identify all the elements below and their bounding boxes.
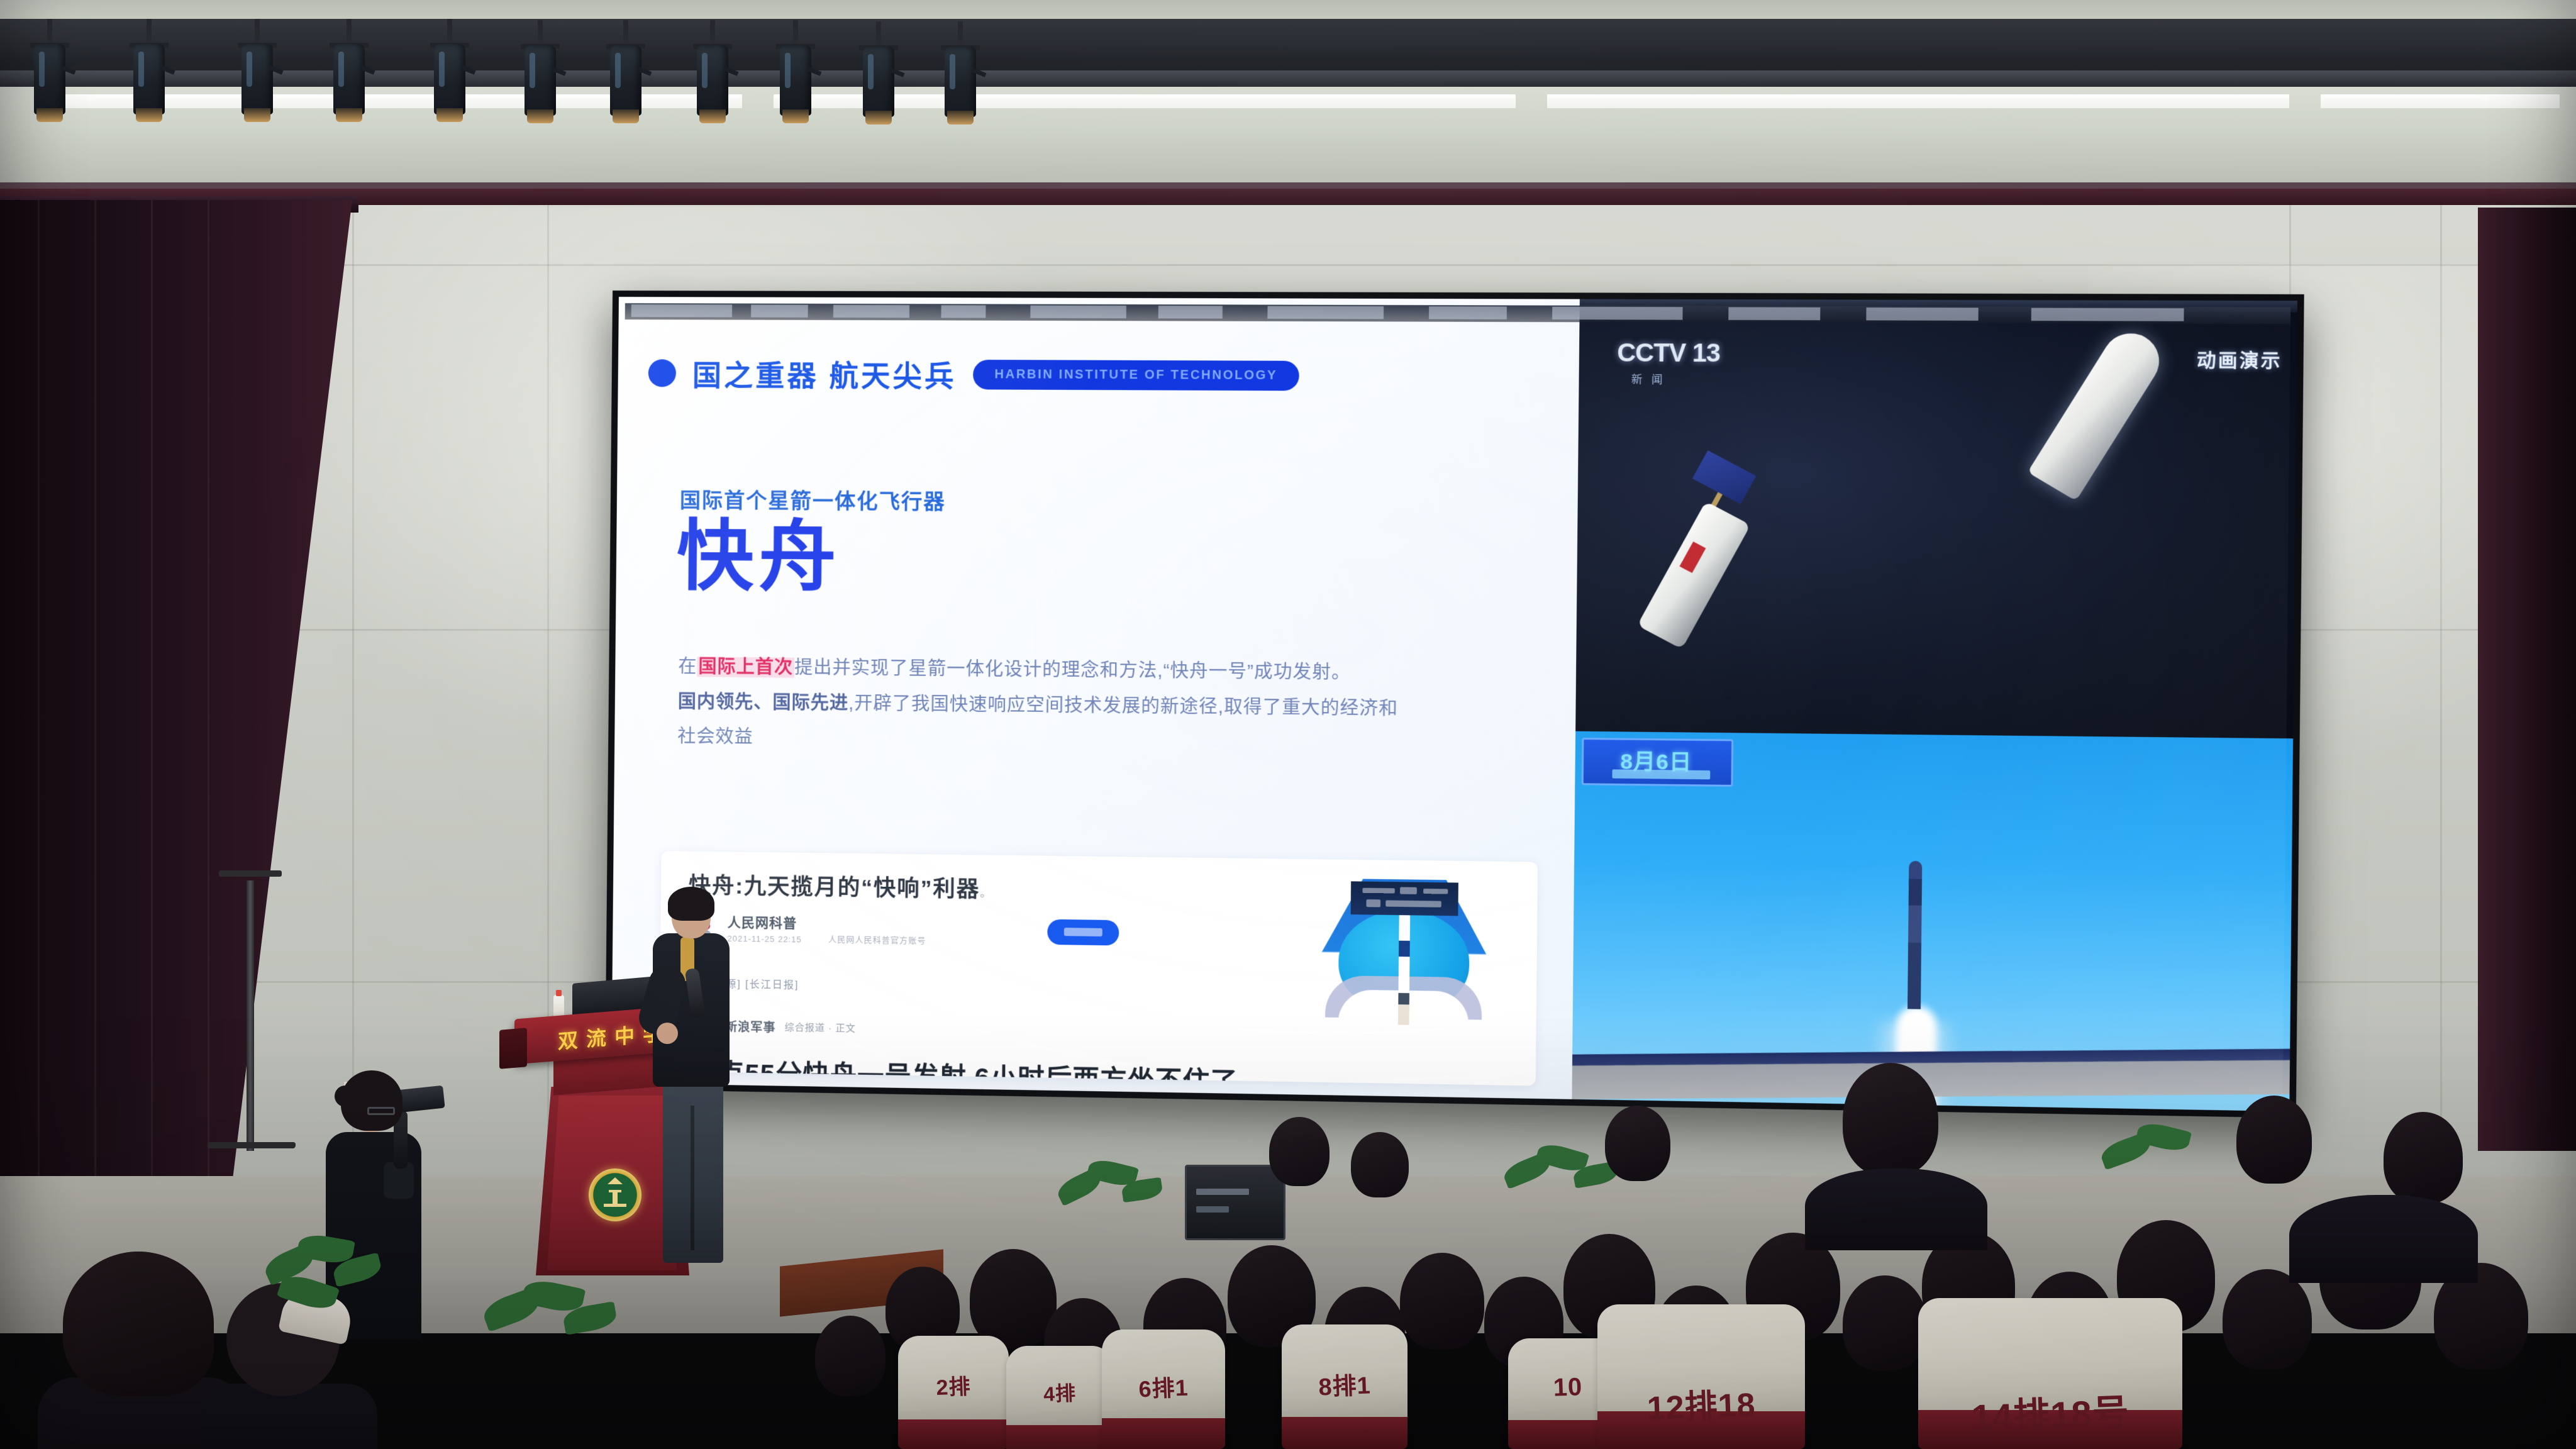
seat: 4排 [1006,1346,1113,1449]
audience-head [1843,1063,1938,1176]
body-rest: 提出并实现了星箭一体化设计的理念和方法,“快舟一号”成功发射。 [794,658,1351,683]
screen-bezel: 国之重器 航天尖兵 HARBIN INSTITUTE OF TECHNOLOGY… [605,291,2304,1118]
school-emblem [589,1169,641,1221]
audience-head [1605,1106,1670,1181]
seat: 2排 [898,1336,1009,1449]
follow-button[interactable] [1047,919,1119,946]
news-source-account: 人民网人民科普官方账号 [828,933,926,946]
ceiling-light-strip [2321,94,2560,108]
audience-head [2223,1269,2312,1370]
infographic-rocket-icon [1398,911,1410,1025]
stage-curtain-right [2478,208,2576,1151]
slide-body-text: 在国际上首次提出并实现了星箭一体化设计的理念和方法,“快舟一号”成功发射。 国内… [677,650,1400,763]
audience-head [970,1249,1057,1348]
audience-head [1843,1275,1927,1371]
audience-head [1351,1132,1409,1197]
seat-number-label: 14排18号 [1970,1383,2130,1441]
glasses-icon [367,1107,395,1115]
audience-shoulders [1805,1169,1987,1250]
ceiling-light-strip [1547,94,2289,108]
broadcast-video-pane: CCTV 13 新闻 动画演示 8月6日 [1572,299,2297,1112]
audience-head [2236,1096,2312,1184]
body-highlight: 国际上首次 [697,657,794,677]
wall-trim-band [0,189,2576,205]
slide-brand-bar: 国之重器 航天尖兵 HARBIN INSTITUTE OF TECHNOLOGY [672,352,1300,396]
hexagon-infographic [1316,875,1492,1037]
university-pill: HARBIN INSTITUTE OF TECHNOLOGY [973,359,1300,390]
news-clipping-card: 快舟:九天揽月的“快响”利器。 人民网科普 2021-11-25 22:15 人… [659,851,1538,1086]
podium-top-side [499,1028,527,1069]
audience-head [1269,1117,1330,1186]
seat-number-label: 2排 [936,1369,972,1401]
broadcast-date-badge: 8月6日 [1582,738,1734,787]
seat-number-label: 4排 [1043,1377,1076,1407]
seat-number-label: 8排1 [1318,1366,1371,1402]
video-upper-space-animation: CCTV 13 新闻 动画演示 [1575,299,2297,739]
lighting-truss [0,70,2576,88]
seat-number-label: 10 [1553,1374,1583,1403]
microphone-stand-base [208,1142,296,1148]
seat-number-label: 12排18 [1646,1378,1756,1429]
cctv-channel-logo: CCTV 13 新闻 [1617,339,1720,387]
news-card-title-suffix: 。 [980,887,992,899]
audience-shoulders [2289,1195,2478,1283]
presenter-speaker [641,892,742,1269]
blue-dot-icon [648,359,676,387]
body-line2-a: 国内领先、国际先进 [678,692,849,714]
water-bottle [553,995,564,1018]
seat: 6排1 [1102,1330,1225,1449]
launching-rocket [1908,860,1923,1009]
slide-big-title: 快舟 [676,511,841,603]
led-presentation-screen[interactable]: 国之重器 航天尖兵 HARBIN INSTITUTE OF TECHNOLOGY… [605,291,2304,1118]
infographic-caption-bar [1351,881,1458,916]
news-headline: 10点55分快舟一号发射,6小时后西方坐不住了 [687,1052,1238,1086]
cctv-channel-sub: 新闻 [1631,370,1720,387]
presentation-slide: 国之重器 航天尖兵 HARBIN INSTITUTE OF TECHNOLOGY… [611,297,1580,1099]
rocket-upper-stage [2009,312,2211,519]
news-source-name: 人民网科普 [728,913,926,935]
seat: 8排1 [1282,1324,1407,1449]
slide-kicker: 国际首个星箭一体化飞行器 [680,484,946,516]
seat: 12排18 [1597,1304,1805,1449]
rack-indicator [1196,1189,1249,1195]
video-lower-launch-footage: 8月6日 [1572,731,2293,1111]
audience-head [1400,1253,1484,1350]
seat: 14排18号 [1918,1298,2182,1449]
slide-brand-title: 国之重器 航天尖兵 [692,352,957,395]
audience-head [2384,1112,2463,1204]
audience-foreground-left-2 [208,1283,365,1449]
sina-section-meta: 综合报道 · 正文 [784,1020,855,1035]
microphone-stand [247,880,254,1151]
rack-indicator [1196,1206,1229,1213]
seat-number-label: 6排1 [1138,1369,1189,1404]
body-pre: 在 [678,657,697,677]
audience-head [815,1316,885,1396]
av-equipment-rack [1185,1165,1285,1240]
auditorium-scene: 国之重器 航天尖兵 HARBIN INSTITUTE OF TECHNOLOGY… [0,0,2576,1449]
university-pill-label: HARBIN INSTITUTE OF TECHNOLOGY [994,367,1277,382]
cctv-channel-main: CCTV 13 [1617,339,1720,368]
satellite-body [1622,466,1820,679]
